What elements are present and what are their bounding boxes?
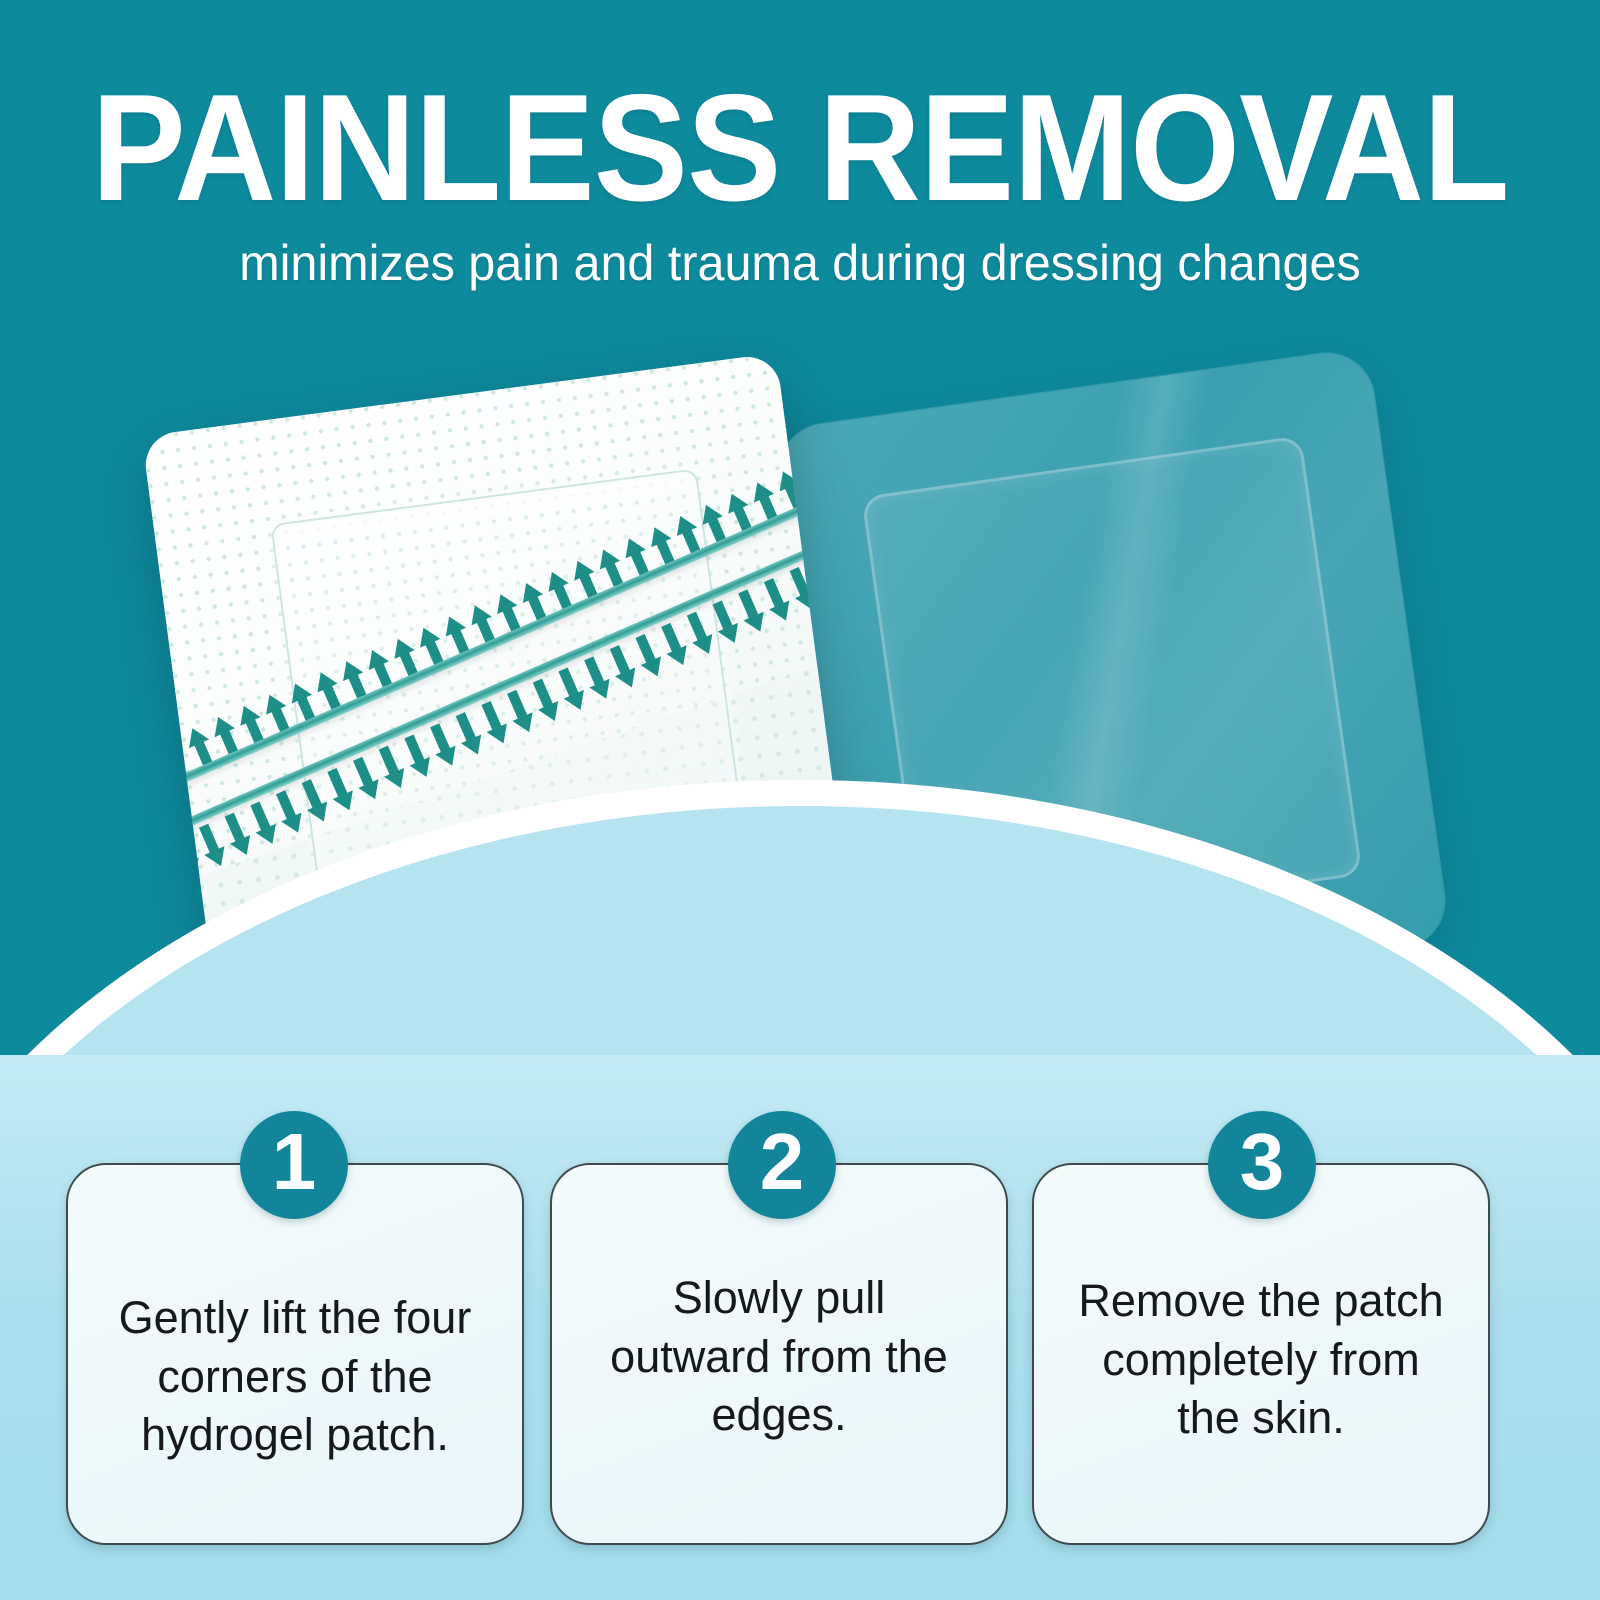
hero-section: PAINLESS REMOVAL minimizes pain and trau… bbox=[0, 0, 1600, 1100]
step-badge-3: 3 bbox=[1208, 1111, 1316, 1219]
step-card-2: 2 Slowly pull outward from the edges. bbox=[550, 1163, 1008, 1545]
step-card-1: 1 Gently lift the four corners of the hy… bbox=[66, 1163, 524, 1545]
step-card-3: 3 Remove the patch completely from the s… bbox=[1032, 1163, 1490, 1545]
page-title: PAINLESS REMOVAL bbox=[56, 72, 1544, 224]
step-number-1: 1 bbox=[272, 1122, 317, 1202]
step-text-1: Gently lift the four corners of the hydr… bbox=[108, 1249, 482, 1465]
gel-patch-image bbox=[773, 347, 1451, 1025]
page-subtitle: minimizes pain and trauma during dressin… bbox=[24, 236, 1576, 291]
step-number-2: 2 bbox=[760, 1122, 805, 1202]
steps-list: 1 Gently lift the four corners of the hy… bbox=[0, 1163, 1600, 1548]
product-photo bbox=[0, 330, 1600, 1090]
step-text-2: Slowly pull outward from the edges. bbox=[592, 1269, 966, 1445]
step-badge-2: 2 bbox=[728, 1111, 836, 1219]
step-number-3: 3 bbox=[1240, 1122, 1285, 1202]
step-badge-1: 1 bbox=[240, 1111, 348, 1219]
step-text-3: Remove the patch completely from the ski… bbox=[1074, 1266, 1448, 1448]
dressing-patch-image bbox=[142, 353, 855, 1031]
gel-patch-sheen bbox=[773, 347, 1451, 1025]
